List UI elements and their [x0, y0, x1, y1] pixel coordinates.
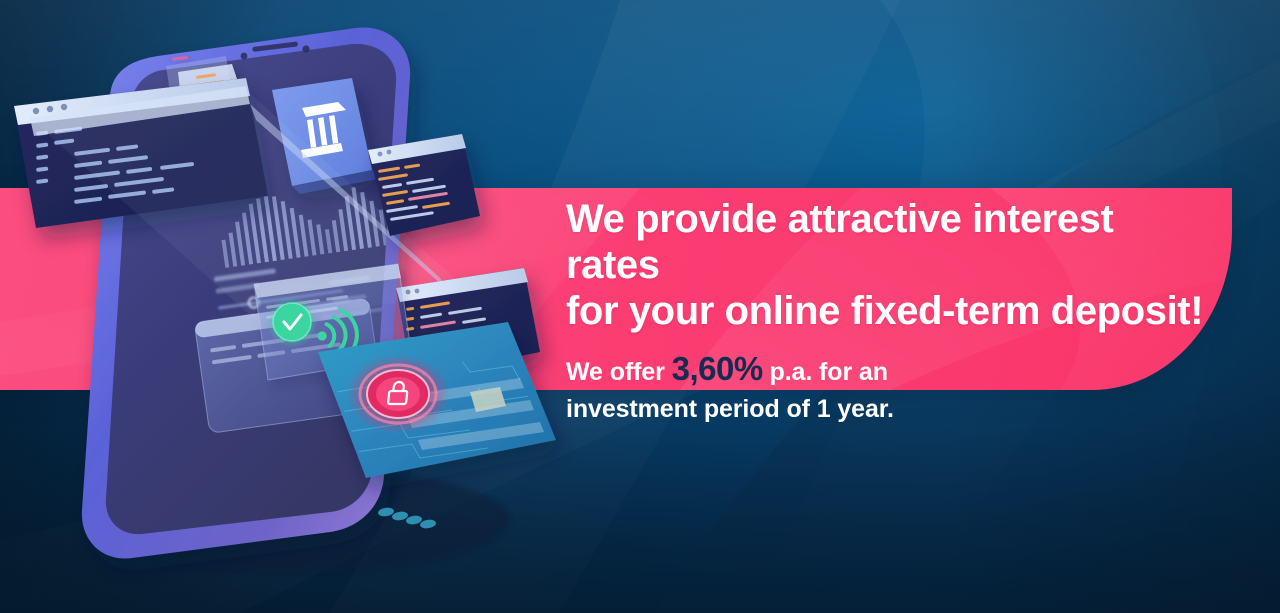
offer-suffix: p.a. for an — [763, 358, 888, 386]
subheadline-line-1: We offer 3,60% p.a. for an — [566, 350, 1206, 391]
headline: We provide attractive interest rates for… — [566, 196, 1206, 334]
banner-copy: We provide attractive interest rates for… — [566, 196, 1206, 428]
checkmark-circle-icon — [266, 296, 318, 348]
lock-shield-icon — [346, 354, 450, 434]
phone-illustration — [0, 0, 640, 613]
interest-rate-value: 3,60% — [672, 350, 763, 387]
offer-prefix: We offer — [566, 358, 672, 386]
subheadline-line-2: investment period of 1 year. — [566, 391, 1206, 428]
marketing-banner: We provide attractive interest rates for… — [0, 0, 1280, 613]
subheadline: We offer 3,60% p.a. for an investment pe… — [566, 350, 1206, 428]
